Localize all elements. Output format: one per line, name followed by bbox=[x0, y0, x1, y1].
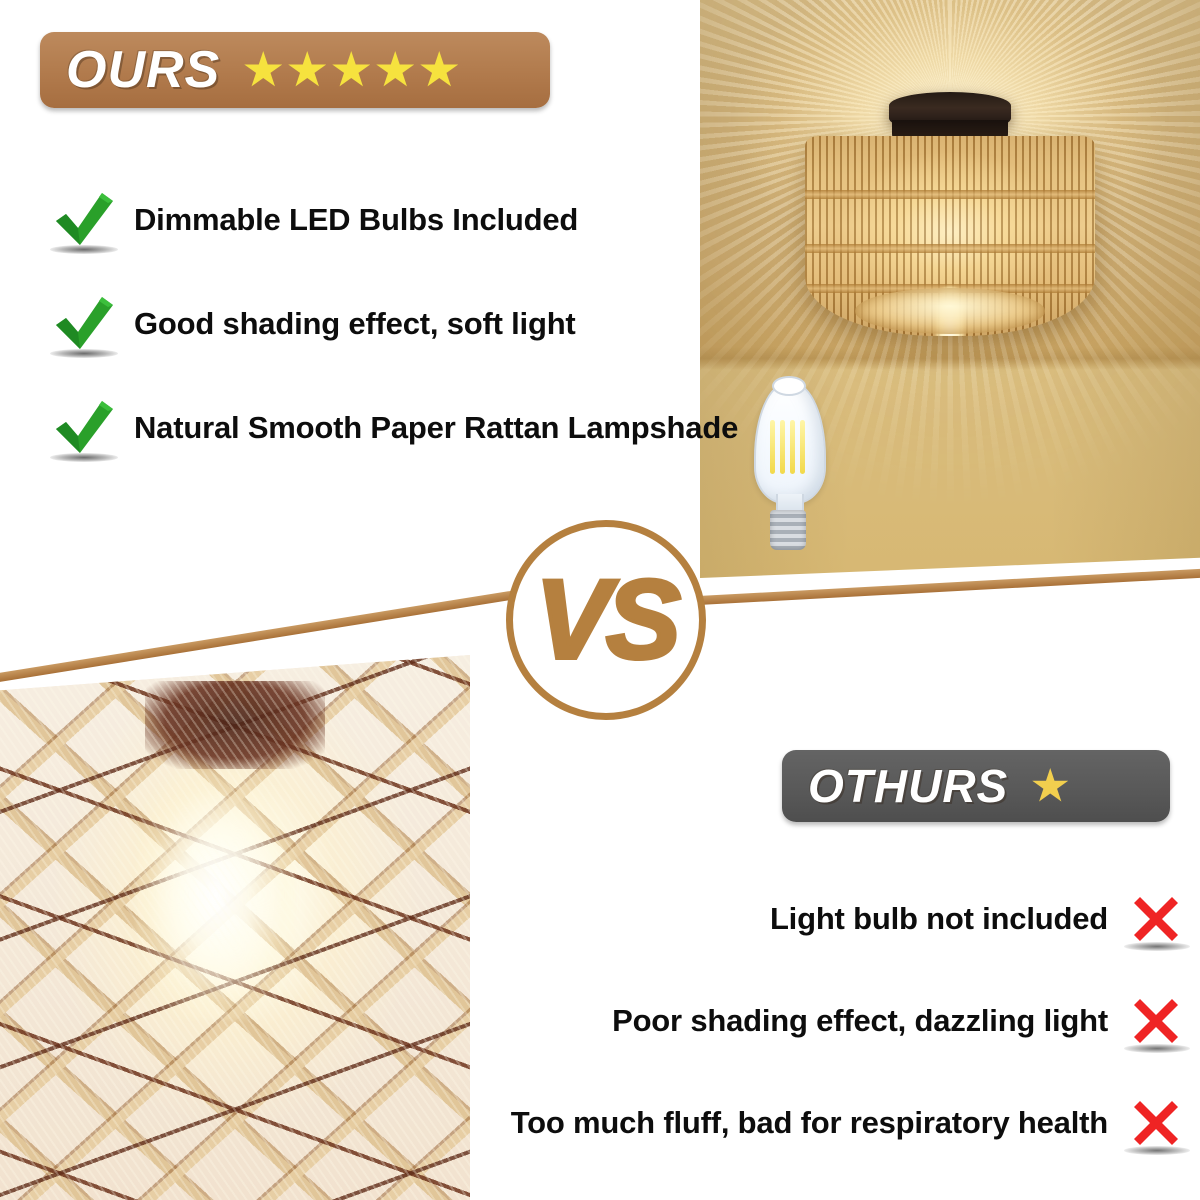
feature-label: Natural Smooth Paper Rattan Lampshade bbox=[134, 410, 738, 446]
bulb-screw-base bbox=[770, 510, 806, 550]
rattan-ring-mid bbox=[805, 244, 1095, 253]
bulb-filament-strand bbox=[800, 420, 805, 474]
rattan-ring-top bbox=[805, 190, 1095, 199]
icon-shadow bbox=[50, 349, 118, 358]
star-icon bbox=[332, 51, 370, 89]
othurs-feature-list: Light bulb not included Poor shading eff… bbox=[482, 868, 1182, 1174]
versus-badge: VS bbox=[506, 520, 706, 720]
icon-shadow bbox=[1124, 942, 1190, 951]
bulb-filament-strand bbox=[790, 420, 795, 474]
rope-fluff-texture bbox=[0, 655, 470, 1200]
bulb-filament-strand bbox=[770, 420, 775, 474]
cross-icon bbox=[1130, 1097, 1182, 1149]
feature-label: Poor shading effect, dazzling light bbox=[612, 1003, 1108, 1039]
othurs-product-photo bbox=[0, 655, 470, 1200]
star-icon bbox=[288, 51, 326, 89]
ours-product-photo bbox=[700, 0, 1200, 578]
icon-shadow bbox=[50, 453, 118, 462]
ours-feature-list: Dimmable LED Bulbs Included Good shading… bbox=[52, 168, 712, 480]
list-item: Light bulb not included bbox=[482, 868, 1182, 970]
ours-badge-label: OURS bbox=[66, 40, 220, 100]
led-bulb-overlay bbox=[748, 382, 828, 552]
cross-icon bbox=[1130, 995, 1182, 1047]
icon-shadow bbox=[1124, 1044, 1190, 1053]
list-item: Too much fluff, bad for respiratory heal… bbox=[482, 1072, 1182, 1174]
list-item: Good shading effect, soft light bbox=[52, 272, 712, 376]
cross-icon bbox=[1130, 893, 1182, 945]
ours-badge: OURS bbox=[40, 32, 550, 108]
list-item: Poor shading effect, dazzling light bbox=[482, 970, 1182, 1072]
feature-label: Too much fluff, bad for respiratory heal… bbox=[511, 1105, 1108, 1141]
comparison-infographic: VS OURS Dimmable LED Bulbs Included bbox=[0, 0, 1200, 1200]
versus-label: VS bbox=[513, 564, 699, 676]
bulb-filament-strand bbox=[780, 420, 785, 474]
check-icon bbox=[52, 190, 116, 250]
star-icon bbox=[1032, 768, 1068, 804]
star-icon bbox=[244, 51, 282, 89]
othurs-badge: OTHURS bbox=[782, 750, 1170, 822]
othurs-badge-label: OTHURS bbox=[808, 759, 1008, 813]
feature-label: Light bulb not included bbox=[770, 901, 1108, 937]
feature-label: Good shading effect, soft light bbox=[134, 306, 576, 342]
othurs-star-rating bbox=[1032, 768, 1068, 804]
ours-star-rating bbox=[244, 51, 458, 89]
list-item: Dimmable LED Bulbs Included bbox=[52, 168, 712, 272]
icon-shadow bbox=[1124, 1146, 1190, 1155]
lampshade-bottom-diffuser bbox=[855, 288, 1045, 334]
bulb-tip bbox=[772, 376, 806, 396]
star-icon bbox=[376, 51, 414, 89]
check-icon bbox=[52, 398, 116, 458]
star-icon bbox=[420, 51, 458, 89]
icon-shadow bbox=[50, 245, 118, 254]
list-item: Natural Smooth Paper Rattan Lampshade bbox=[52, 376, 712, 480]
feature-label: Dimmable LED Bulbs Included bbox=[134, 202, 578, 238]
check-icon bbox=[52, 294, 116, 354]
rattan-lampshade bbox=[805, 136, 1095, 336]
